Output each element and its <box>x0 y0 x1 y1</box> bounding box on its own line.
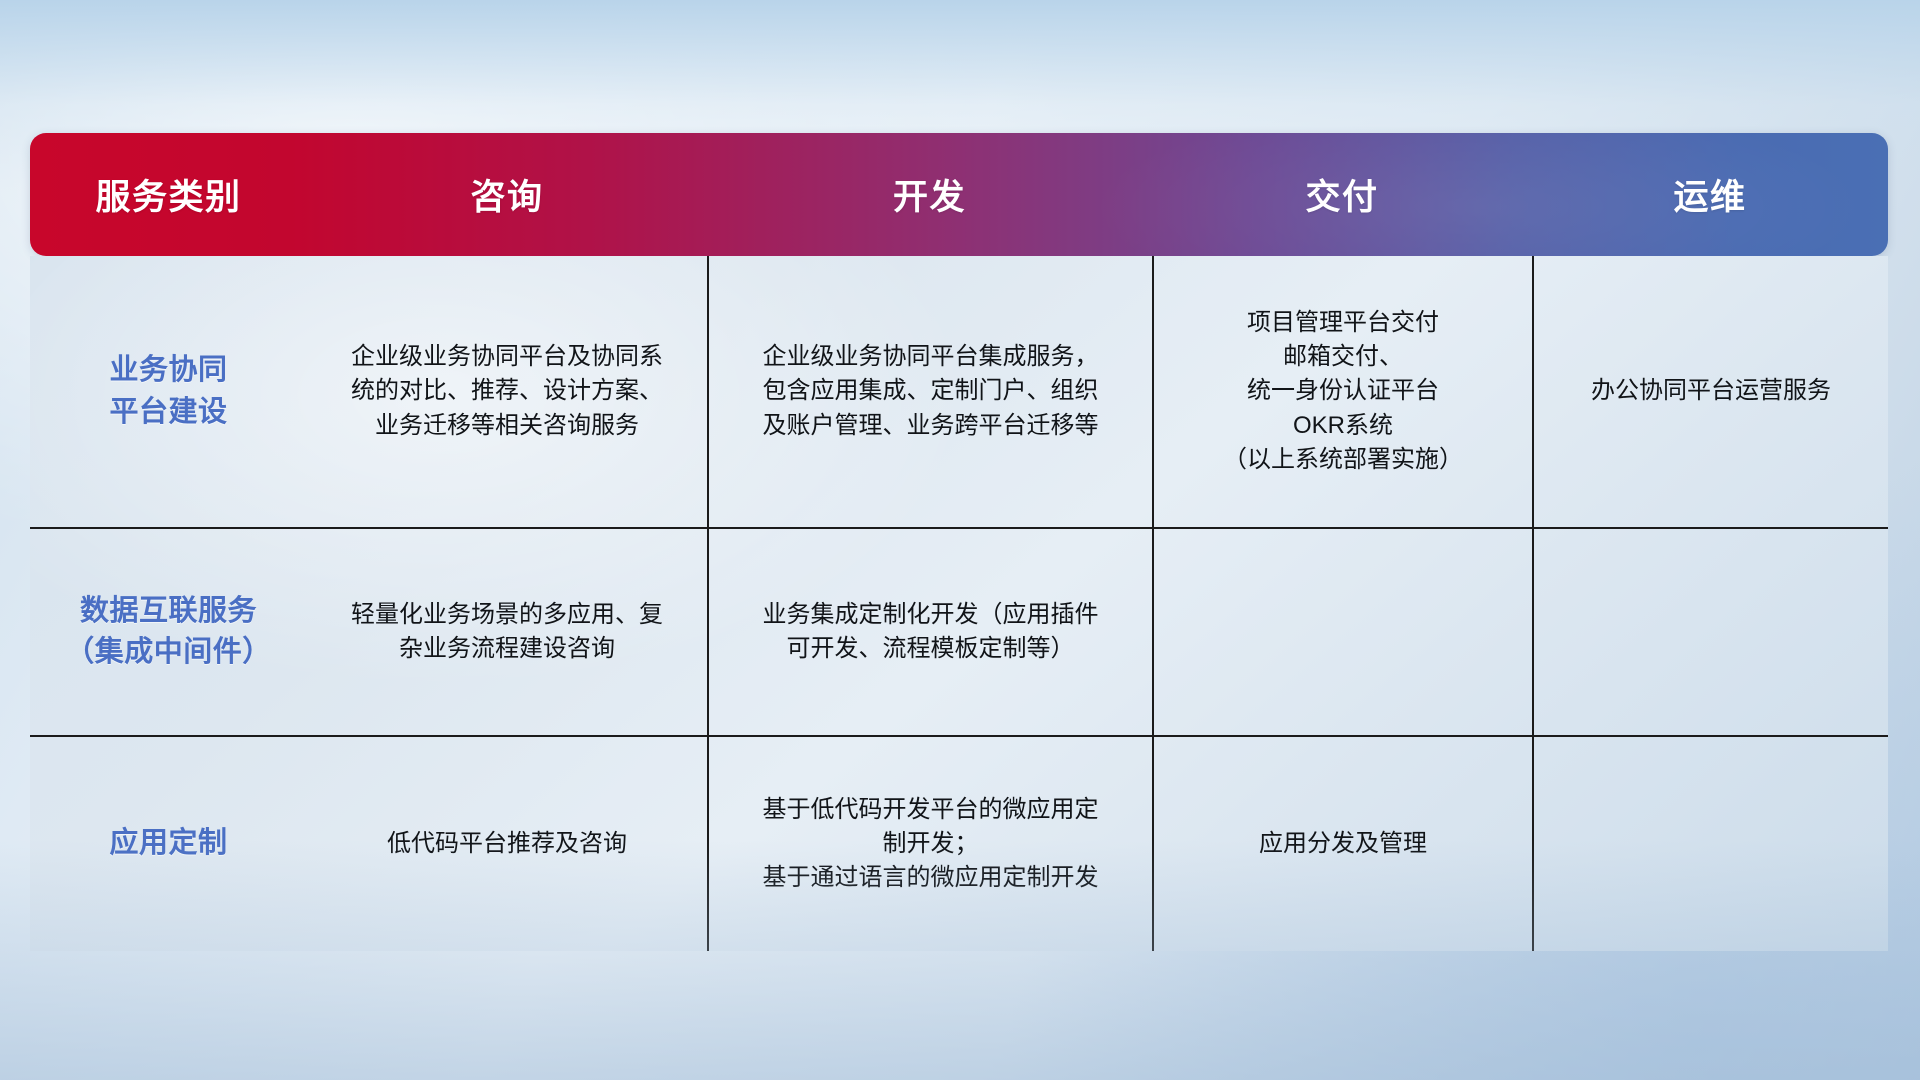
row-category-label: 应用定制 <box>30 737 307 951</box>
column-header-consulting: 咨询 <box>307 169 707 220</box>
cell-consulting: 企业级业务协同平台及协同系 统的对比、推荐、设计方案、 业务迁移等相关咨询服务 <box>307 256 707 527</box>
table-header-row: 服务类别 咨询 开发 交付 运维 <box>30 133 1888 256</box>
slide-canvas: 服务类别 咨询 开发 交付 运维 业务协同 平台建设 企业级业务协同平台及协同系… <box>0 0 1920 1080</box>
table-row: 应用定制 低代码平台推荐及咨询 基于低代码开发平台的微应用定 制开发； 基于通过… <box>30 735 1888 951</box>
table-body: 业务协同 平台建设 企业级业务协同平台及协同系 统的对比、推荐、设计方案、 业务… <box>30 256 1888 951</box>
cell-consulting: 低代码平台推荐及咨询 <box>307 737 707 951</box>
cell-operations <box>1532 529 1888 735</box>
cell-consulting: 轻量化业务场景的多应用、复 杂业务流程建设咨询 <box>307 529 707 735</box>
cell-delivery <box>1152 529 1532 735</box>
cell-delivery: 应用分发及管理 <box>1152 737 1532 951</box>
cell-delivery: 项目管理平台交付 邮箱交付、 统一身份认证平台 OKR系统 （以上系统部署实施） <box>1152 256 1532 527</box>
service-matrix-table: 服务类别 咨询 开发 交付 运维 业务协同 平台建设 企业级业务协同平台及协同系… <box>30 133 1888 951</box>
column-header-operations: 运维 <box>1532 169 1888 220</box>
column-header-category: 服务类别 <box>30 169 307 220</box>
cell-operations <box>1532 737 1888 951</box>
cell-development: 基于低代码开发平台的微应用定 制开发； 基于通过语言的微应用定制开发 <box>707 737 1152 951</box>
column-header-delivery: 交付 <box>1152 169 1532 220</box>
cell-development: 企业级业务协同平台集成服务， 包含应用集成、定制门户、组织 及账户管理、业务跨平… <box>707 256 1152 527</box>
row-category-label: 数据互联服务 （集成中间件） <box>30 529 307 735</box>
column-header-development: 开发 <box>707 169 1152 220</box>
table-row: 业务协同 平台建设 企业级业务协同平台及协同系 统的对比、推荐、设计方案、 业务… <box>30 256 1888 527</box>
table-row: 数据互联服务 （集成中间件） 轻量化业务场景的多应用、复 杂业务流程建设咨询 业… <box>30 527 1888 735</box>
row-category-label: 业务协同 平台建设 <box>30 256 307 527</box>
cell-development: 业务集成定制化开发（应用插件 可开发、流程模板定制等） <box>707 529 1152 735</box>
cell-operations: 办公协同平台运营服务 <box>1532 256 1888 527</box>
